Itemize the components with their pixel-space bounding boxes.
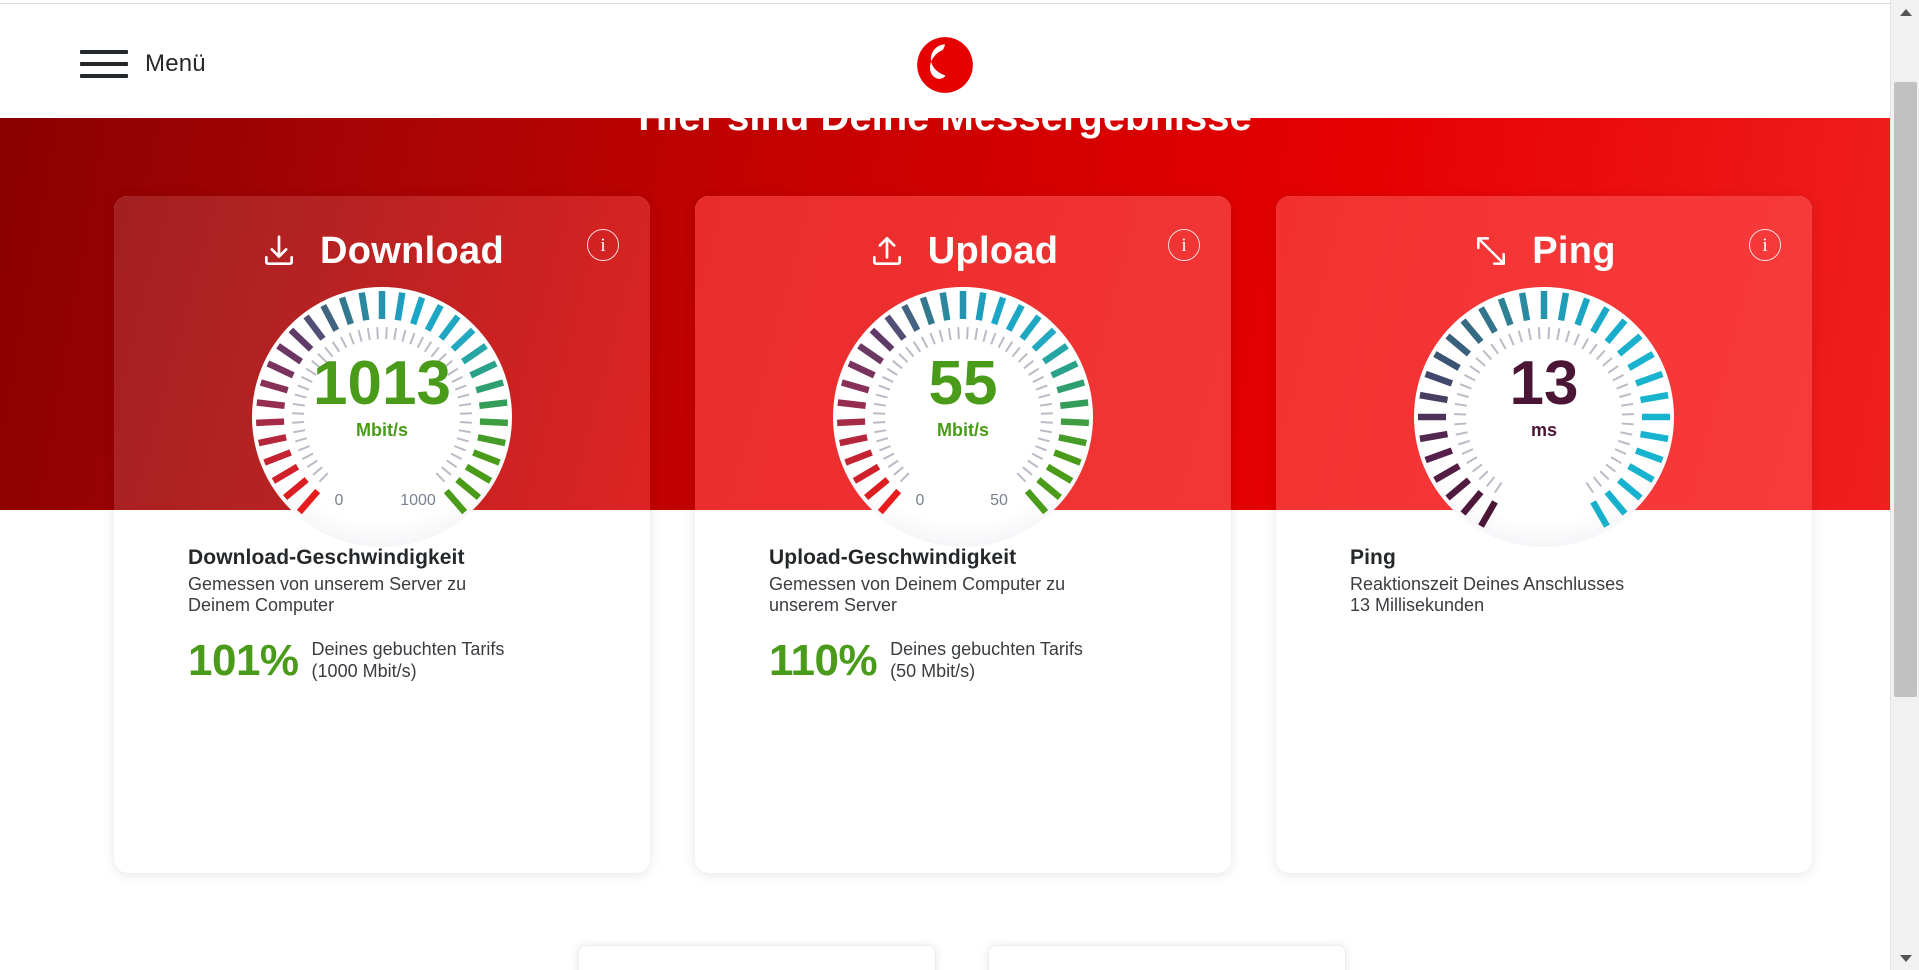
site-header: Menü	[0, 3, 1890, 120]
percent-value: 101%	[188, 639, 299, 683]
percent-label-line2: (1000 Mbit/s)	[312, 661, 505, 683]
gauge-svg: 55 Mbit/s 0 50	[830, 284, 1096, 550]
chevron-up-icon	[1900, 9, 1912, 16]
gauge-value: 13	[1510, 349, 1579, 418]
ping-arrows-icon	[1472, 232, 1510, 270]
gauge-scale-min: 0	[916, 492, 925, 509]
gauge-unit: Mbit/s	[356, 420, 408, 440]
card-header-upload: Upload	[695, 220, 1231, 282]
gauge-download: 1013 Mbit/s 0 1000	[249, 284, 515, 550]
gauge-unit: ms	[1531, 420, 1557, 440]
body-subtitle-line2: 13 Millisekunden	[1350, 595, 1770, 616]
percent-label-line1: Deines gebuchten Tarifs	[890, 639, 1083, 661]
scroll-down-arrow[interactable]	[1891, 946, 1919, 970]
download-arrow-icon	[260, 232, 298, 270]
page-title: Hier sind Deine Messergebnisse	[0, 118, 1890, 140]
result-card-download: Download i	[114, 196, 650, 873]
hamburger-icon	[80, 50, 128, 78]
info-icon-glyph: i	[600, 236, 605, 255]
result-card-ping: Ping i 13 ms Ping Reaktionsz	[1276, 196, 1812, 873]
card-body-upload: Upload-Geschwindigkeit Gemessen von Dein…	[769, 546, 1189, 617]
bottom-card-right[interactable]	[988, 945, 1346, 970]
gauge-scale-max: 50	[990, 492, 1008, 509]
card-title: Upload	[928, 230, 1059, 273]
body-subtitle-line1: Gemessen von unserem Server zu	[188, 574, 608, 595]
bottom-card-left[interactable]	[578, 945, 936, 970]
upload-arrow-icon	[868, 232, 906, 270]
gauge-scale-min: 0	[335, 492, 344, 509]
menu-button[interactable]: Menü	[80, 50, 206, 78]
card-title: Download	[320, 230, 504, 273]
vertical-scrollbar[interactable]	[1890, 0, 1919, 970]
scrollbar-track[interactable]	[1891, 24, 1919, 946]
info-icon[interactable]: i	[1749, 229, 1781, 261]
card-body-download: Download-Geschwindigkeit Gemessen von un…	[188, 546, 608, 617]
percent-value: 110%	[769, 639, 877, 683]
info-icon[interactable]: i	[1168, 229, 1200, 261]
info-icon-glyph: i	[1181, 236, 1186, 255]
card-body-ping: Ping Reaktionszeit Deines Anschlusses 13…	[1350, 546, 1770, 617]
body-subtitle-line2: Deinem Computer	[188, 595, 608, 616]
info-icon-glyph: i	[1762, 236, 1767, 255]
tariff-percent-download: 101% Deines gebuchten Tarifs (1000 Mbit/…	[188, 639, 504, 683]
percent-label-line2: (50 Mbit/s)	[890, 661, 1083, 683]
gauge-scale-max: 1000	[400, 492, 436, 509]
gauge-unit: Mbit/s	[937, 420, 989, 440]
gauge-svg: 1013 Mbit/s 0 1000	[249, 284, 515, 550]
results-card-row: Download i	[114, 196, 1814, 873]
card-title: Ping	[1532, 230, 1616, 273]
chevron-down-icon	[1900, 955, 1912, 962]
body-subtitle-line1: Reaktionszeit Deines Anschlusses	[1350, 574, 1770, 595]
gauge-ping: 13 ms	[1411, 284, 1677, 550]
body-subtitle-line1: Gemessen von Deinem Computer zu	[769, 574, 1189, 595]
tariff-percent-upload: 110% Deines gebuchten Tarifs (50 Mbit/s)	[769, 639, 1083, 683]
browser-viewport: Menü Hier sind Deine Messergebnisse	[0, 0, 1919, 970]
percent-label-line1: Deines gebuchten Tarifs	[312, 639, 505, 661]
vodafone-logo[interactable]	[912, 32, 978, 98]
result-card-upload: Upload i 55 Mbit/s 0 50	[695, 196, 1231, 873]
gauge-value: 55	[929, 349, 998, 418]
gauge-value: 1013	[313, 349, 451, 418]
gauge-svg: 13 ms	[1411, 284, 1677, 550]
body-subtitle-line2: unserem Server	[769, 595, 1189, 616]
info-icon[interactable]: i	[587, 229, 619, 261]
scroll-up-arrow[interactable]	[1891, 0, 1919, 24]
card-header-ping: Ping	[1276, 220, 1812, 282]
menu-label: Menü	[145, 50, 206, 78]
scrollbar-thumb[interactable]	[1894, 82, 1917, 697]
page-content: Menü Hier sind Deine Messergebnisse	[0, 0, 1890, 970]
gauge-upload: 55 Mbit/s 0 50	[830, 284, 1096, 550]
card-header-download: Download	[114, 220, 650, 282]
